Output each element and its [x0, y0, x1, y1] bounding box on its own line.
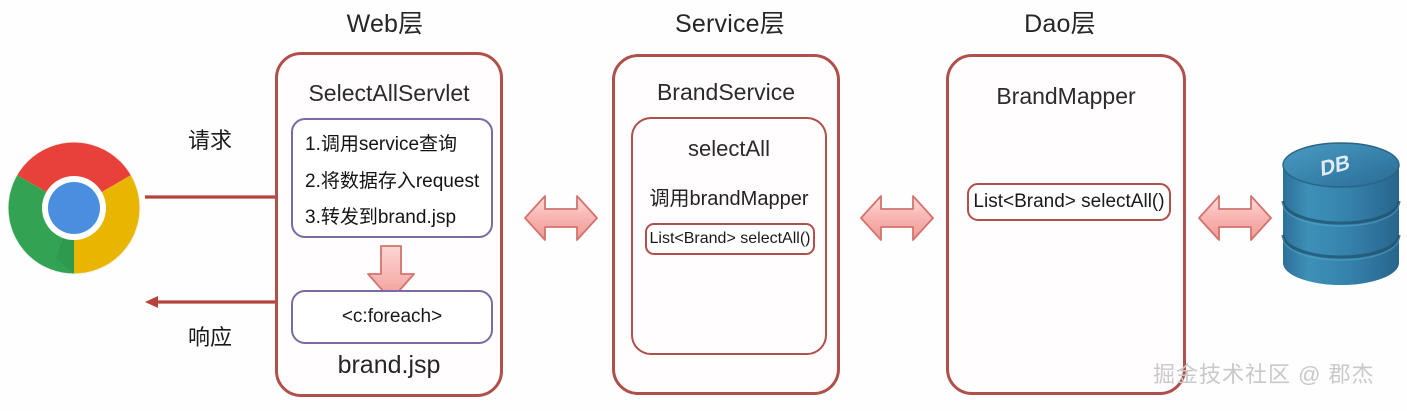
servlet-step: 2.将数据存入request [305, 171, 479, 193]
servlet-steps-box: 1.调用service查询 2.将数据存入request 3.转发到brand.… [291, 118, 493, 238]
spellcheck-underline [338, 378, 441, 383]
service-layer-box: BrandService selectAll 调用brandMapper Lis… [612, 54, 840, 395]
request-label: 请求 [188, 123, 232, 155]
chrome-browser-icon [4, 138, 144, 278]
dao-layer-box: BrandMapper List<Brand> selectAll() [946, 54, 1186, 395]
web-layer-box: SelectAllServlet 1.调用service查询 2.将数据存入re… [275, 52, 503, 397]
dao-signature-box: List<Brand> selectAll() [967, 183, 1171, 221]
response-label: 响应 [188, 320, 232, 352]
service-method-box: selectAll 调用brandMapper List<Brand> sele… [631, 117, 827, 355]
watermark: 掘金技术社区 @ 郡杰 [1153, 357, 1375, 389]
service-signature-box: List<Brand> selectAll() [645, 223, 815, 255]
layer-title-web: Web层 [300, 4, 470, 40]
jsp-foreach-box: <c:foreach> [291, 290, 493, 344]
jsp-file-name: brand.jsp [338, 351, 441, 379]
request-arrow [145, 186, 290, 208]
service-class-name: BrandService [615, 79, 837, 106]
jsp-foreach-tag: <c:foreach> [342, 306, 442, 328]
service-method-name: selectAll [633, 136, 825, 162]
database-cylinder-icon: DB [1277, 137, 1405, 297]
dao-db-connector [1196, 192, 1274, 244]
architecture-diagram-canvas: Web层 Service层 Dao层 [0, 0, 1407, 411]
service-calls-label: 调用brandMapper [633, 182, 825, 211]
response-arrow [145, 291, 290, 313]
dao-class-name: BrandMapper [949, 83, 1183, 110]
web-servlet-name: SelectAllServlet [278, 80, 500, 107]
layer-title-service: Service层 [640, 4, 820, 40]
servlet-step: 1.调用service查询 [305, 134, 479, 156]
layer-title-dao: Dao层 [980, 4, 1140, 40]
servlet-step: 3.转发到brand.jsp [305, 207, 479, 229]
service-dao-connector [858, 192, 936, 244]
web-service-connector [522, 192, 600, 244]
dao-signature: List<Brand> selectAll() [973, 191, 1164, 213]
service-signature: List<Brand> selectAll() [650, 230, 811, 248]
jsp-file-name-wrap: brand.jsp [278, 351, 500, 380]
